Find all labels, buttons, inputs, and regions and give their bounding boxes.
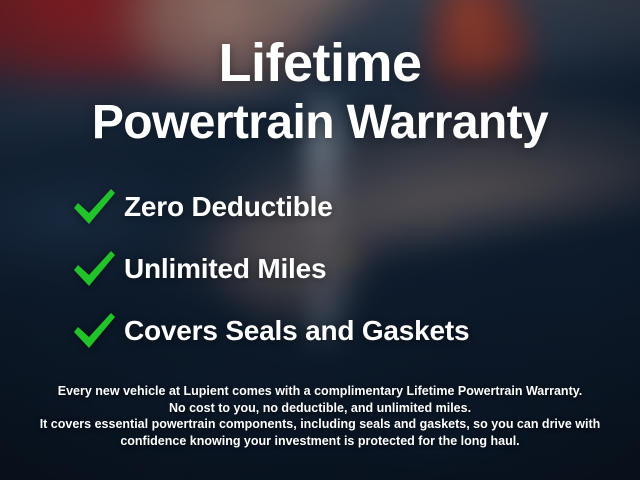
body-copy-line: confidence knowing your investment is pr…	[28, 433, 612, 450]
body-copy-line: Every new vehicle at Lupient comes with …	[28, 383, 612, 400]
benefit-label: Zero Deductible	[124, 191, 333, 223]
check-icon	[70, 186, 118, 228]
benefits-list: Zero Deductible Unlimited Miles Covers S…	[70, 176, 600, 362]
body-copy-line: It covers essential powertrain component…	[28, 416, 612, 433]
benefit-item-covers-seals-and-gaskets: Covers Seals and Gaskets	[70, 300, 600, 362]
check-icon	[70, 310, 118, 352]
warranty-promo-banner: Lifetime Powertrain Warranty Zero Deduct…	[0, 0, 640, 480]
promo-content: Lifetime Powertrain Warranty Zero Deduct…	[0, 0, 640, 480]
check-icon	[70, 248, 118, 290]
benefit-item-unlimited-miles: Unlimited Miles	[70, 238, 600, 300]
body-copy: Every new vehicle at Lupient comes with …	[28, 383, 612, 449]
benefit-label: Unlimited Miles	[124, 253, 326, 285]
benefit-label: Covers Seals and Gaskets	[124, 315, 469, 347]
headline-line-2: Powertrain Warranty	[0, 99, 640, 147]
body-copy-line: No cost to you, no deductible, and unlim…	[28, 400, 612, 417]
headline-line-1: Lifetime	[0, 36, 640, 90]
benefit-item-zero-deductible: Zero Deductible	[70, 176, 600, 238]
page-title: Lifetime Powertrain Warranty	[0, 36, 640, 147]
